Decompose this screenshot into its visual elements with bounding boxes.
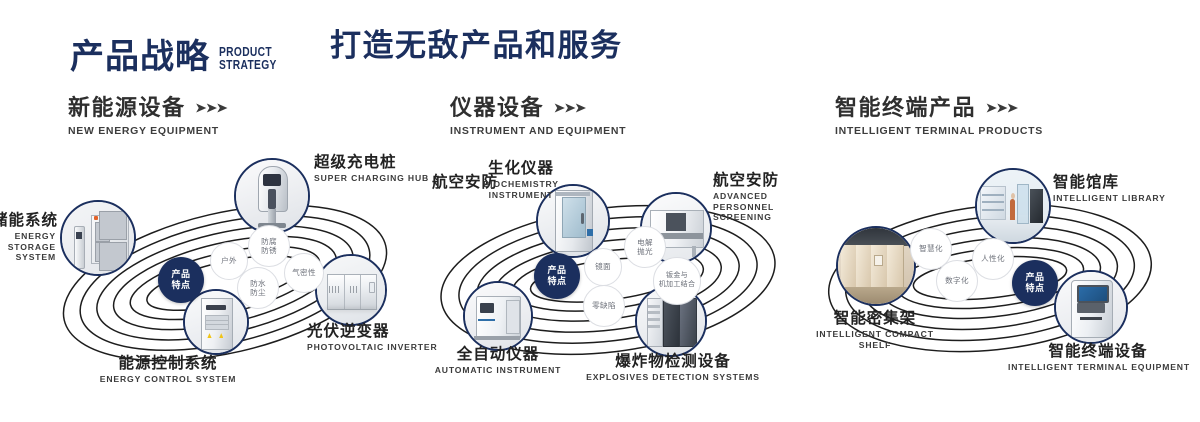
section-title-instrument: 仪器设备 ➤➤➤ INSTRUMENT AND EQUIPMENT — [450, 96, 626, 137]
intelligent-library-photo — [977, 170, 1049, 242]
feature-bubble-zero-defect[interactable]: 零缺陷 — [583, 285, 625, 327]
label-energy-control-system: 能源控制系统 ENERGY CONTROL SYSTEM — [83, 355, 253, 385]
label-intelligent-terminal-equipment: 智能终端设备 INTELLIGENT TERMINAL EQUIPMENT — [1008, 343, 1188, 373]
feature-bubble-anticorrosion[interactable]: 防腐 防锈 — [248, 225, 290, 267]
cluster-new-energy: 储能系统 ENERGY STORAGE SYSTEM 超级充电桩 SUPER C… — [20, 150, 440, 415]
node-intelligent-library[interactable] — [975, 168, 1051, 244]
cluster-intelligent-terminal: 智能馆库 INTELLIGENT LIBRARY 智能密集架 INTELLIGE… — [800, 150, 1200, 415]
section-title-en: NEW ENERGY EQUIPMENT — [68, 125, 226, 137]
brand-title-cn: 产品战略 — [70, 40, 210, 74]
feature-bubble-text: 户外 — [221, 256, 237, 265]
label-en: EXPLOSIVES DETECTION SYSTEMS — [583, 372, 763, 383]
chevrons-icon: ➤➤➤ — [195, 100, 227, 117]
node-intelligent-terminal-equipment[interactable] — [1054, 270, 1128, 344]
label-en: BIOCHEMISTRY INSTRUMENT — [456, 179, 586, 200]
intelligent-terminal-equipment-photo — [1056, 272, 1126, 342]
chevrons-icon: ➤➤➤ — [553, 100, 585, 117]
feature-bubble-text: 数字化 — [945, 276, 969, 285]
label-en: INTELLIGENT LIBRARY — [1053, 193, 1166, 204]
label-cn: 能源控制系统 — [83, 355, 253, 373]
core-bubble-product-features[interactable]: 产品 特点 — [1012, 260, 1058, 306]
label-intelligent-library: 智能馆库 INTELLIGENT LIBRARY — [1053, 174, 1166, 204]
node-energy-storage-system[interactable] — [60, 200, 136, 276]
feature-bubble-text: 零缺陷 — [592, 301, 616, 310]
energy-control-system-photo — [185, 291, 247, 353]
section-title-en: INSTRUMENT AND EQUIPMENT — [450, 125, 626, 137]
feature-bubble-text: 人性化 — [981, 254, 1005, 263]
node-intelligent-compact-shelf[interactable] — [836, 226, 916, 306]
core-bubble-text: 产品 特点 — [171, 269, 190, 292]
label-explosives-detection: 爆炸物检测设备 EXPLOSIVES DETECTION SYSTEMS — [583, 353, 763, 383]
feature-bubble-text: 智慧化 — [919, 244, 943, 253]
intelligent-compact-shelf-photo — [838, 228, 914, 304]
product-strategy-infographic: 产品战略 PRODUCT STRATEGY 打造无敌产品和服务 新能源设备 ➤➤… — [0, 0, 1200, 422]
core-bubble-text: 产品 特点 — [547, 265, 566, 288]
feature-bubble-humanized[interactable]: 人性化 — [972, 238, 1014, 280]
node-automatic-instrument[interactable] — [463, 281, 533, 351]
feature-bubble-electropolishing[interactable]: 电解 抛光 — [624, 226, 666, 268]
label-cn: 爆炸物检测设备 — [583, 353, 763, 371]
section-title-cn: 新能源设备 — [68, 96, 186, 120]
label-en: INTELLIGENT COMPACT SHELF — [805, 329, 945, 350]
headline: 打造无敌产品和服务 — [330, 30, 623, 61]
automatic-instrument-photo — [465, 283, 531, 349]
super-charging-hub-photo — [236, 160, 308, 232]
section-title-en: INTELLIGENT TERMINAL PRODUCTS — [835, 125, 1043, 137]
feature-bubble-text: 防水 防尘 — [250, 279, 266, 298]
section-title-cn: 仪器设备 — [450, 96, 544, 120]
node-super-charging-hub[interactable] — [234, 158, 310, 234]
label-cn: 生化仪器 — [456, 160, 586, 178]
label-cn: 储能系统 — [0, 212, 56, 230]
label-cn: 全自动仪器 — [418, 346, 578, 364]
label-cn: 智能密集架 — [805, 310, 945, 328]
energy-storage-system-photo — [62, 202, 134, 274]
feature-bubble-text: 钣金与 机加工结合 — [659, 272, 696, 290]
label-en: AUTOMATIC INSTRUMENT — [418, 365, 578, 376]
core-bubble-text: 产品 特点 — [1025, 272, 1044, 295]
section-title-new-energy: 新能源设备 ➤➤➤ NEW ENERGY EQUIPMENT — [68, 96, 226, 137]
feature-bubble-text: 镜面 — [595, 262, 611, 271]
feature-bubble-digital[interactable]: 数字化 — [936, 260, 978, 302]
feature-bubble-waterproof[interactable]: 防水 防尘 — [237, 267, 279, 309]
label-automatic-instrument: 全自动仪器 AUTOMATIC INSTRUMENT — [418, 346, 578, 376]
core-bubble-product-features[interactable]: 产品 特点 — [534, 253, 580, 299]
feature-bubble-airtight[interactable]: 气密性 — [284, 253, 324, 293]
section-title-intelligent-terminal: 智能终端产品 ➤➤➤ INTELLIGENT TERMINAL PRODUCTS — [835, 96, 1043, 137]
label-cn: 智能馆库 — [1053, 174, 1166, 192]
label-biochemistry-instrument: 生化仪器 BIOCHEMISTRY INSTRUMENT — [456, 160, 586, 200]
label-en: ENERGY STORAGE SYSTEM — [0, 231, 56, 263]
cluster-instrument: 航空安防 生化仪器 BIOCHEMISTRY INSTRUMENT 航空安防 A… — [408, 150, 828, 415]
brand-header: 产品战略 PRODUCT STRATEGY — [70, 26, 289, 74]
feature-bubble-sheetmetal-machining[interactable]: 钣金与 机加工结合 — [653, 257, 701, 305]
chevrons-icon: ➤➤➤ — [985, 100, 1017, 117]
feature-bubble-text: 防腐 防锈 — [261, 237, 277, 256]
feature-bubble-text: 电解 抛光 — [637, 238, 653, 257]
brand-title-en-line2: STRATEGY — [219, 59, 277, 72]
label-energy-storage-system: 储能系统 ENERGY STORAGE SYSTEM — [0, 212, 56, 263]
section-title-cn: 智能终端产品 — [835, 96, 976, 120]
label-en: ENERGY CONTROL SYSTEM — [83, 374, 253, 385]
brand-title-en: PRODUCT STRATEGY — [219, 46, 289, 74]
label-en: INTELLIGENT TERMINAL EQUIPMENT — [1008, 362, 1188, 373]
feature-bubble-text: 气密性 — [292, 268, 316, 277]
photovoltaic-inverter-photo — [317, 256, 385, 324]
feature-bubble-mirror[interactable]: 镜面 — [584, 248, 622, 286]
label-intelligent-compact-shelf: 智能密集架 INTELLIGENT COMPACT SHELF — [805, 310, 945, 350]
core-bubble-product-features[interactable]: 产品 特点 — [158, 257, 204, 303]
node-photovoltaic-inverter[interactable] — [315, 254, 387, 326]
label-cn: 智能终端设备 — [1008, 343, 1188, 361]
